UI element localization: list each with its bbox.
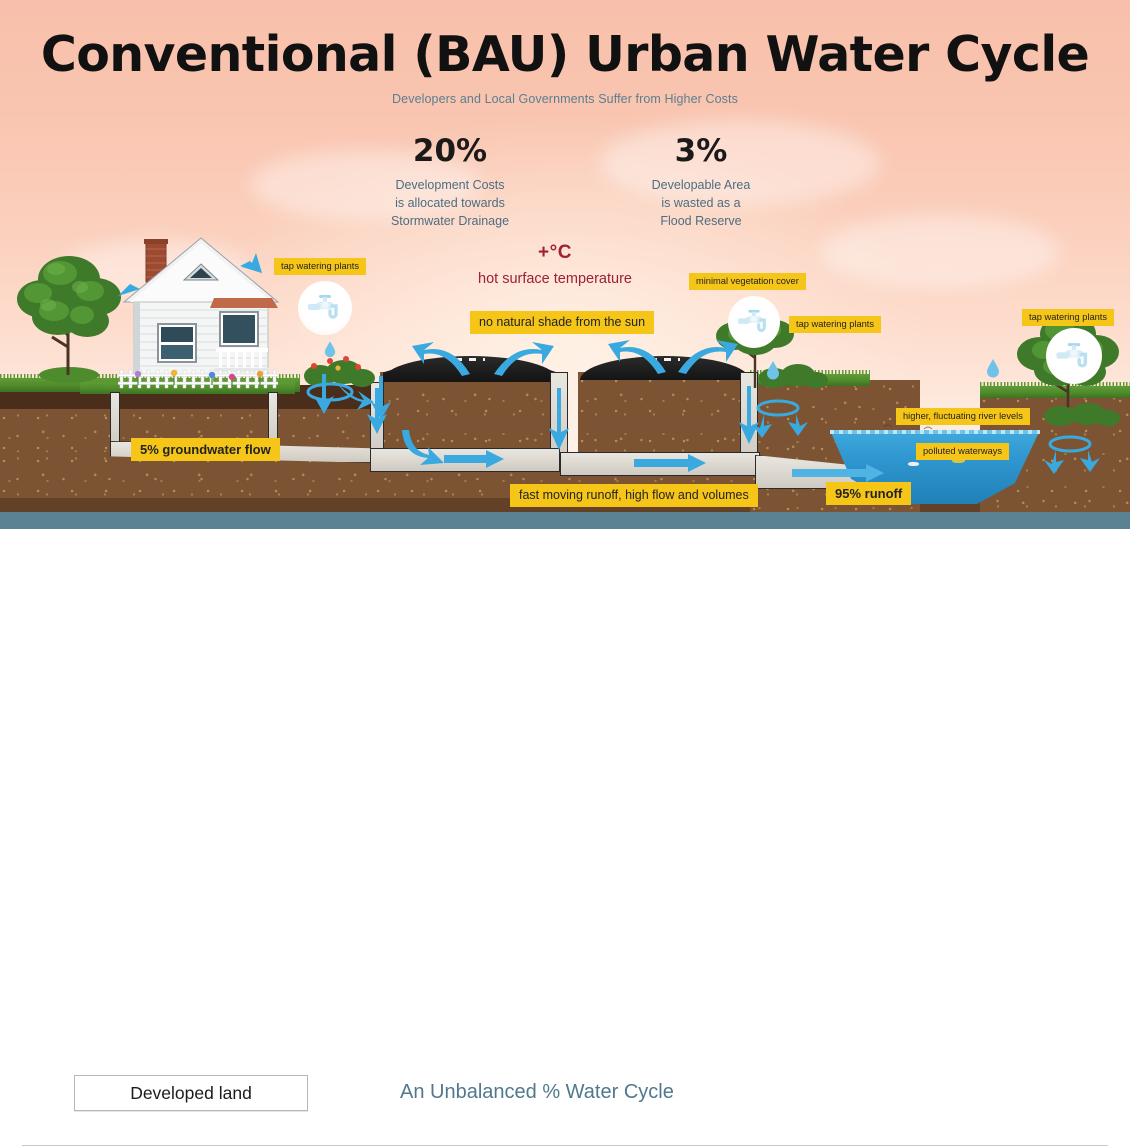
label-tap-watering-plants-mid: tap watering plants bbox=[789, 316, 881, 333]
temperature-callout: +°C hot surface temperature bbox=[430, 242, 680, 287]
river-debris bbox=[908, 462, 919, 466]
tap-icon-right bbox=[1046, 328, 1102, 384]
label-no-natural-shade: no natural shade from the sun bbox=[470, 311, 654, 334]
page-subtitle: Developers and Local Governments Suffer … bbox=[0, 92, 1130, 106]
tap-icon bbox=[1054, 341, 1094, 372]
river-surface-line bbox=[830, 430, 1040, 434]
label-groundwater-flow: 5% groundwater flow bbox=[131, 438, 280, 461]
stat-development-costs: 20% Development Costs is allocated towar… bbox=[340, 134, 560, 230]
label-runoff: 95% runoff bbox=[826, 482, 911, 505]
tap-icon-mid bbox=[728, 296, 780, 348]
stat-line: Stormwater Drainage bbox=[340, 212, 560, 230]
footer-caption: An Unbalanced % Water Cycle bbox=[400, 1081, 674, 1104]
tap-icon bbox=[736, 308, 772, 336]
drain-inlet-garden bbox=[370, 382, 384, 458]
tap-icon-left bbox=[298, 281, 352, 335]
stat-line: Developable Area bbox=[606, 176, 796, 194]
scene-illustration: Conventional (BAU) Urban Water Cycle Dev… bbox=[0, 0, 1130, 512]
bush-icon bbox=[756, 356, 830, 390]
stat-line: is allocated towards bbox=[340, 194, 560, 212]
label-tap-watering-plants-left: tap watering plants bbox=[274, 258, 366, 275]
temperature-caption: hot surface temperature bbox=[430, 271, 680, 287]
label-fast-moving-runoff: fast moving runoff, high flow and volume… bbox=[510, 484, 758, 507]
label-tap-watering-plants-right: tap watering plants bbox=[1022, 309, 1114, 326]
stat-value: 3% bbox=[606, 134, 796, 168]
stat-developable-area: 3% Developable Area is wasted as a Flood… bbox=[606, 134, 796, 230]
label-minimal-vegetation-cover: minimal vegetation cover bbox=[689, 273, 806, 290]
page-title: Conventional (BAU) Urban Water Cycle bbox=[0, 26, 1130, 83]
legend-developed-land[interactable]: Developed land bbox=[74, 1075, 308, 1111]
temperature-value: +°C bbox=[430, 242, 680, 264]
footer-section: Developed land An Unbalanced % Water Cyc… bbox=[0, 529, 1130, 635]
stat-line: Flood Reserve bbox=[606, 212, 796, 230]
bush-icon bbox=[1040, 398, 1120, 428]
legend-label: Developed land bbox=[130, 1083, 252, 1104]
topsoil-left bbox=[0, 392, 300, 409]
tree-icon bbox=[14, 243, 124, 383]
drain-trunk-culvert-left bbox=[370, 448, 560, 472]
teal-divider-band bbox=[0, 512, 1130, 529]
drain-trunk-culvert-right bbox=[560, 452, 760, 476]
stat-line: is wasted as a bbox=[606, 194, 796, 212]
road-center-line-2 bbox=[650, 358, 680, 361]
stat-value: 20% bbox=[340, 134, 560, 168]
tap-icon bbox=[306, 293, 344, 323]
stat-line: Development Costs bbox=[340, 176, 560, 194]
road-center-line-1 bbox=[455, 358, 485, 361]
garden-flowers-icon bbox=[128, 366, 278, 386]
label-polluted-waterways: polluted waterways bbox=[916, 443, 1009, 460]
infographic-page: Conventional (BAU) Urban Water Cycle Dev… bbox=[0, 0, 1130, 635]
bush-icon bbox=[300, 348, 376, 390]
subsoil-road-1 bbox=[380, 372, 560, 452]
label-higher-river-levels: higher, fluctuating river levels bbox=[896, 408, 1030, 425]
